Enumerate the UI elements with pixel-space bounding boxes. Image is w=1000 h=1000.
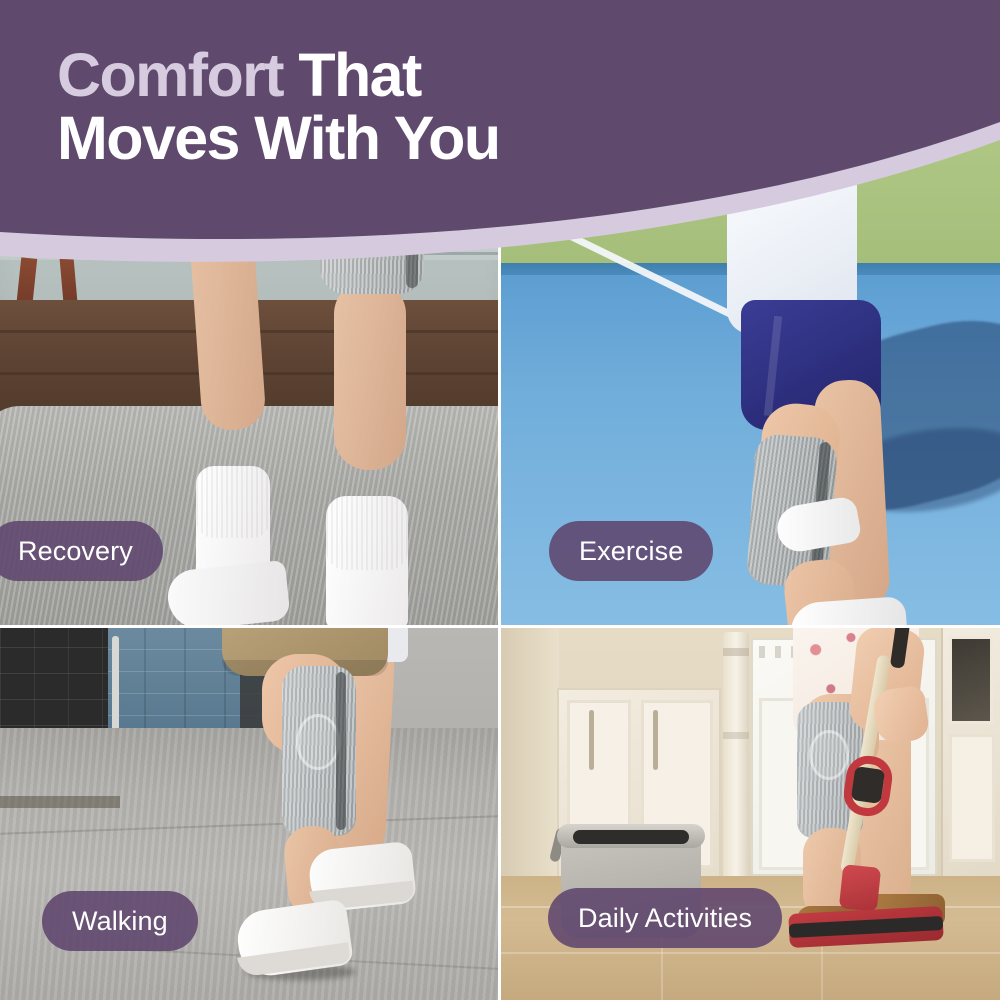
patella-pad	[809, 730, 849, 780]
right-hand	[871, 685, 930, 746]
oven-window	[949, 636, 993, 724]
column-ring-2	[723, 732, 749, 739]
sleeve-side-stripe	[336, 672, 346, 830]
page-title: Comfort That Moves With You	[57, 44, 757, 170]
headline-line-2: Moves With You	[57, 107, 757, 170]
bucket-interior	[573, 830, 689, 844]
curb-edge	[0, 796, 120, 808]
patella-pad	[296, 714, 340, 770]
decorative-column	[723, 632, 749, 882]
mop-lever-core	[851, 766, 885, 804]
headline-line-1-word-2: That	[298, 41, 420, 109]
right-sock-ribbing	[326, 496, 408, 570]
right-shin	[334, 280, 406, 470]
column-ring-1	[723, 648, 749, 656]
label-pill-exercise[interactable]: Exercise	[549, 521, 713, 581]
product-poster: Comfort That Moves With You Recovery Exe…	[0, 0, 1000, 1000]
headline-line-1: Comfort That	[57, 44, 757, 107]
label-pill-daily-activities[interactable]: Daily Activities	[548, 888, 782, 948]
wall-pole	[112, 636, 119, 736]
right-cabinet-panel	[949, 734, 995, 862]
label-pill-recovery[interactable]: Recovery	[0, 521, 163, 581]
cabinet-handle-right	[653, 710, 658, 770]
left-sock-ribbing	[196, 466, 270, 538]
headline-line-1-rest	[283, 41, 298, 109]
cabinet-handle-left	[589, 710, 594, 770]
tile-grout-2	[501, 952, 1000, 954]
label-pill-walking[interactable]: Walking	[42, 891, 198, 951]
headline-accent-word: Comfort	[57, 41, 283, 109]
mop-neck	[839, 864, 881, 912]
